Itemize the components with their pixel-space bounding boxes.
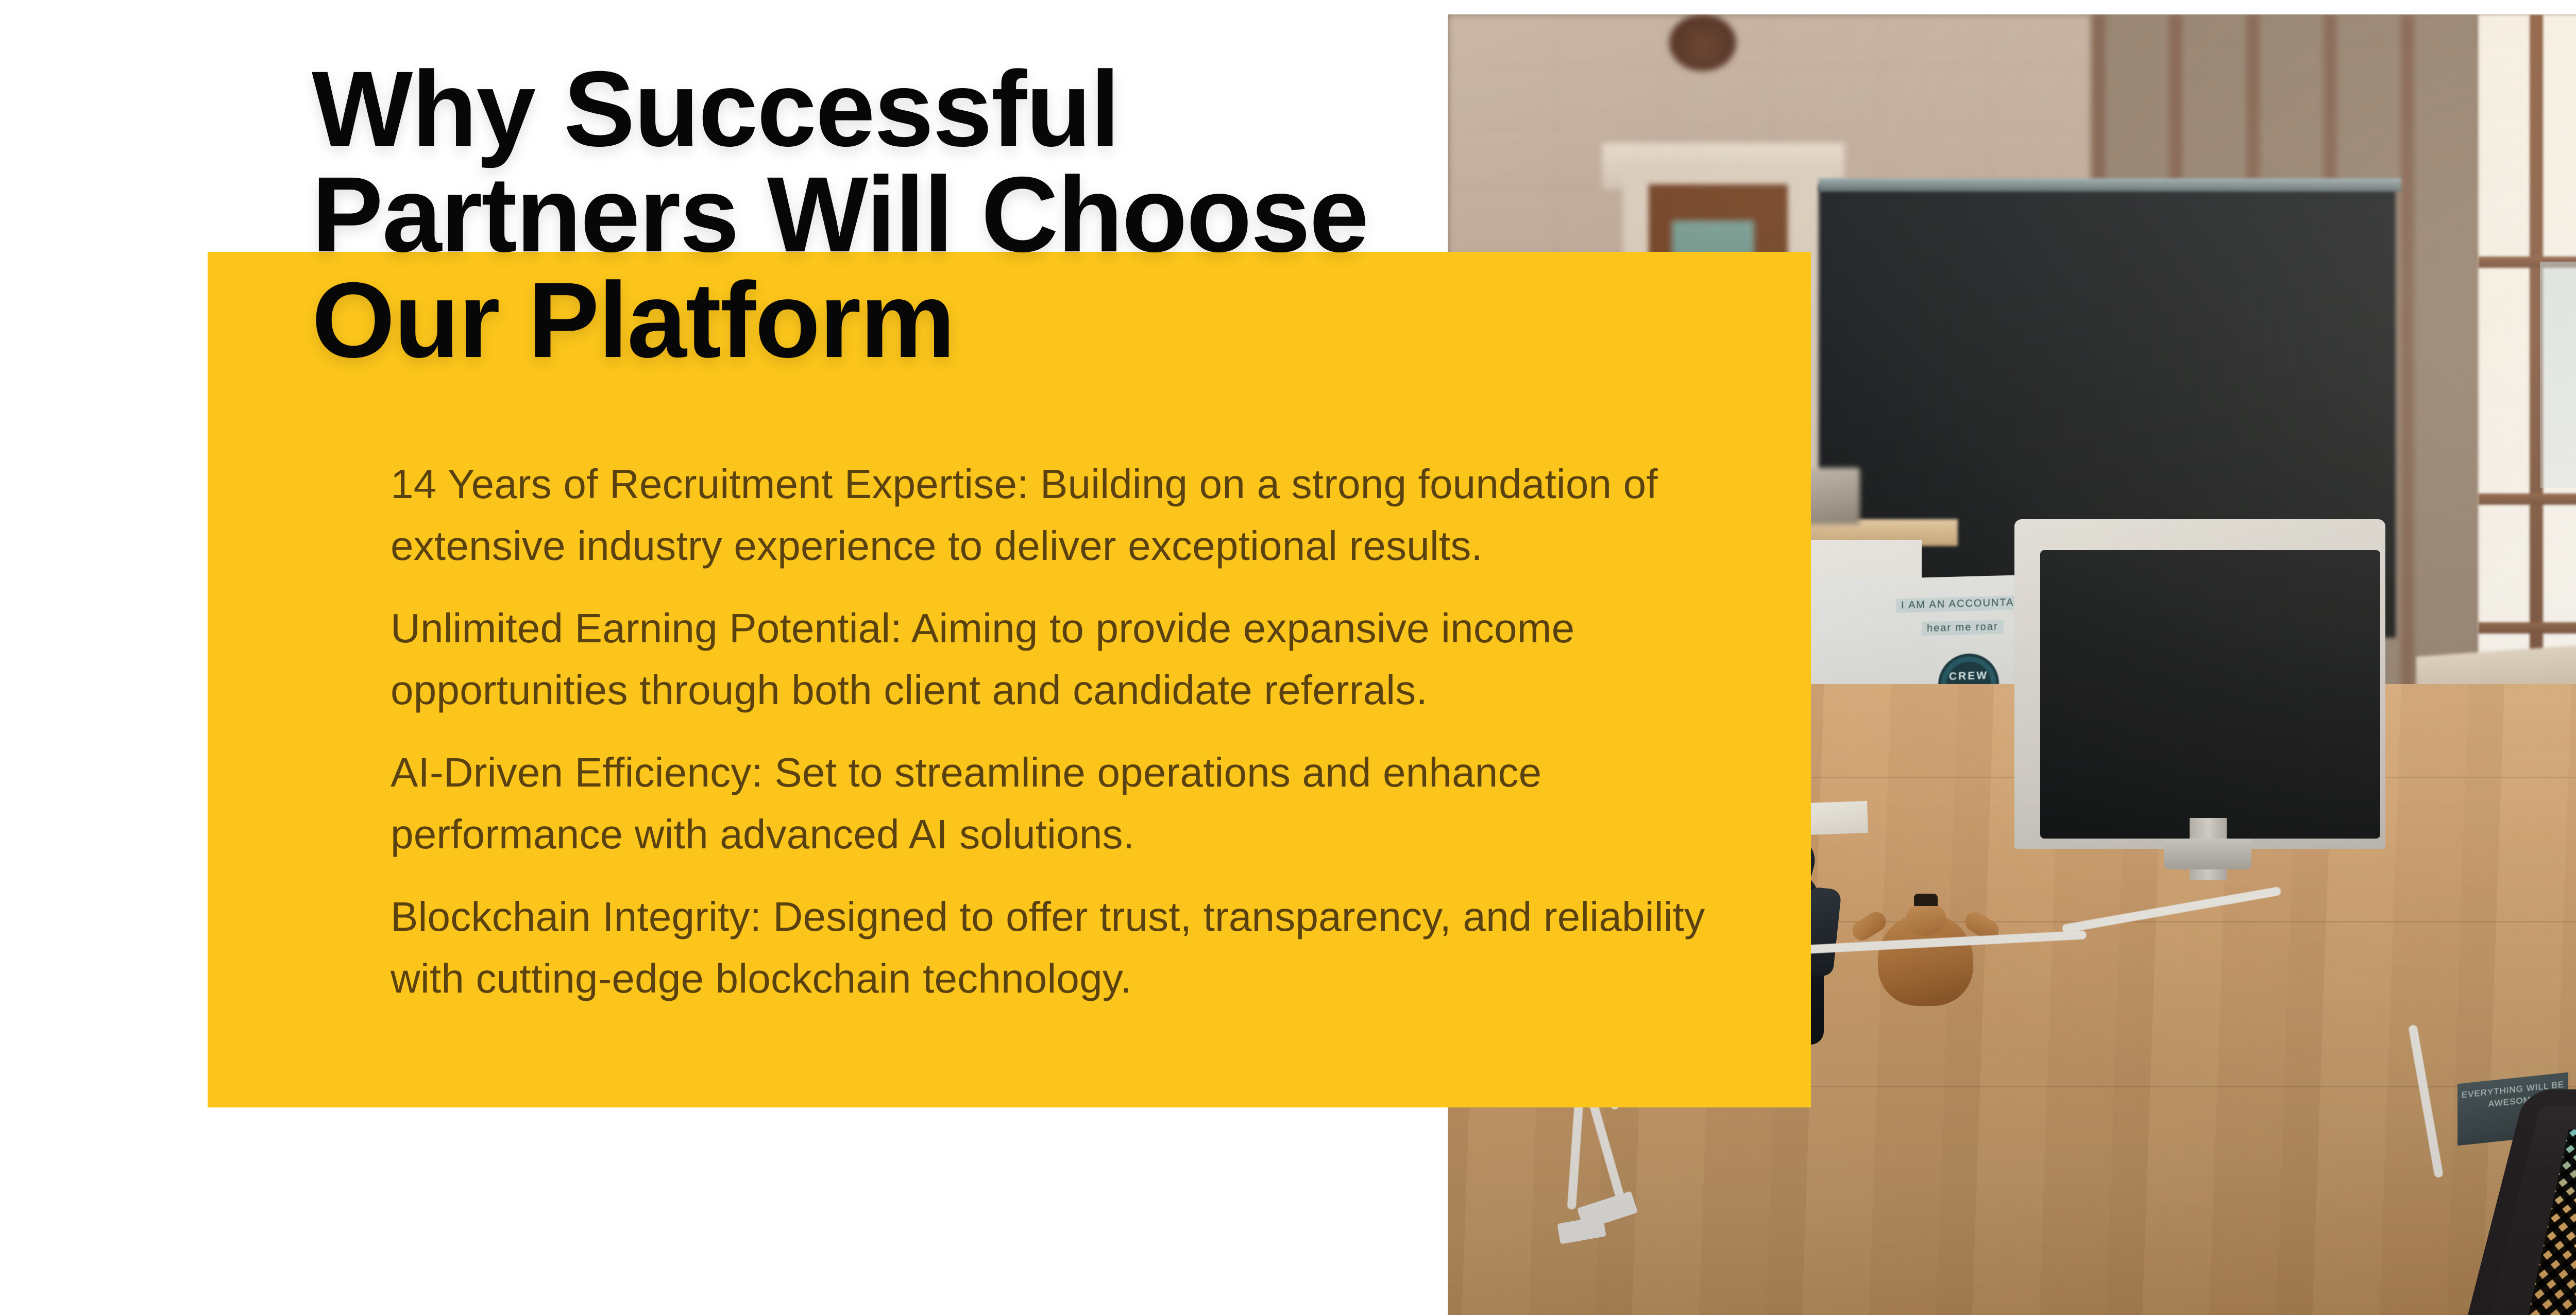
page-title: Why Successful Partners Will Choose Our …	[312, 57, 1445, 373]
benefit-item: Blockchain Integrity: Designed to offer …	[391, 886, 1740, 1010]
benefit-item: Unlimited Earning Potential: Aiming to p…	[391, 597, 1740, 721]
benefit-item: AI-Driven Efficiency: Set to streamline …	[391, 742, 1740, 865]
landing-section: I AM AN ACCOUNTANT hear me roar CREW	[0, 0, 2576, 1315]
benefits-list: 14 Years of Recruitment Expertise: Build…	[391, 453, 1740, 1010]
benefit-item: 14 Years of Recruitment Expertise: Build…	[391, 453, 1740, 577]
